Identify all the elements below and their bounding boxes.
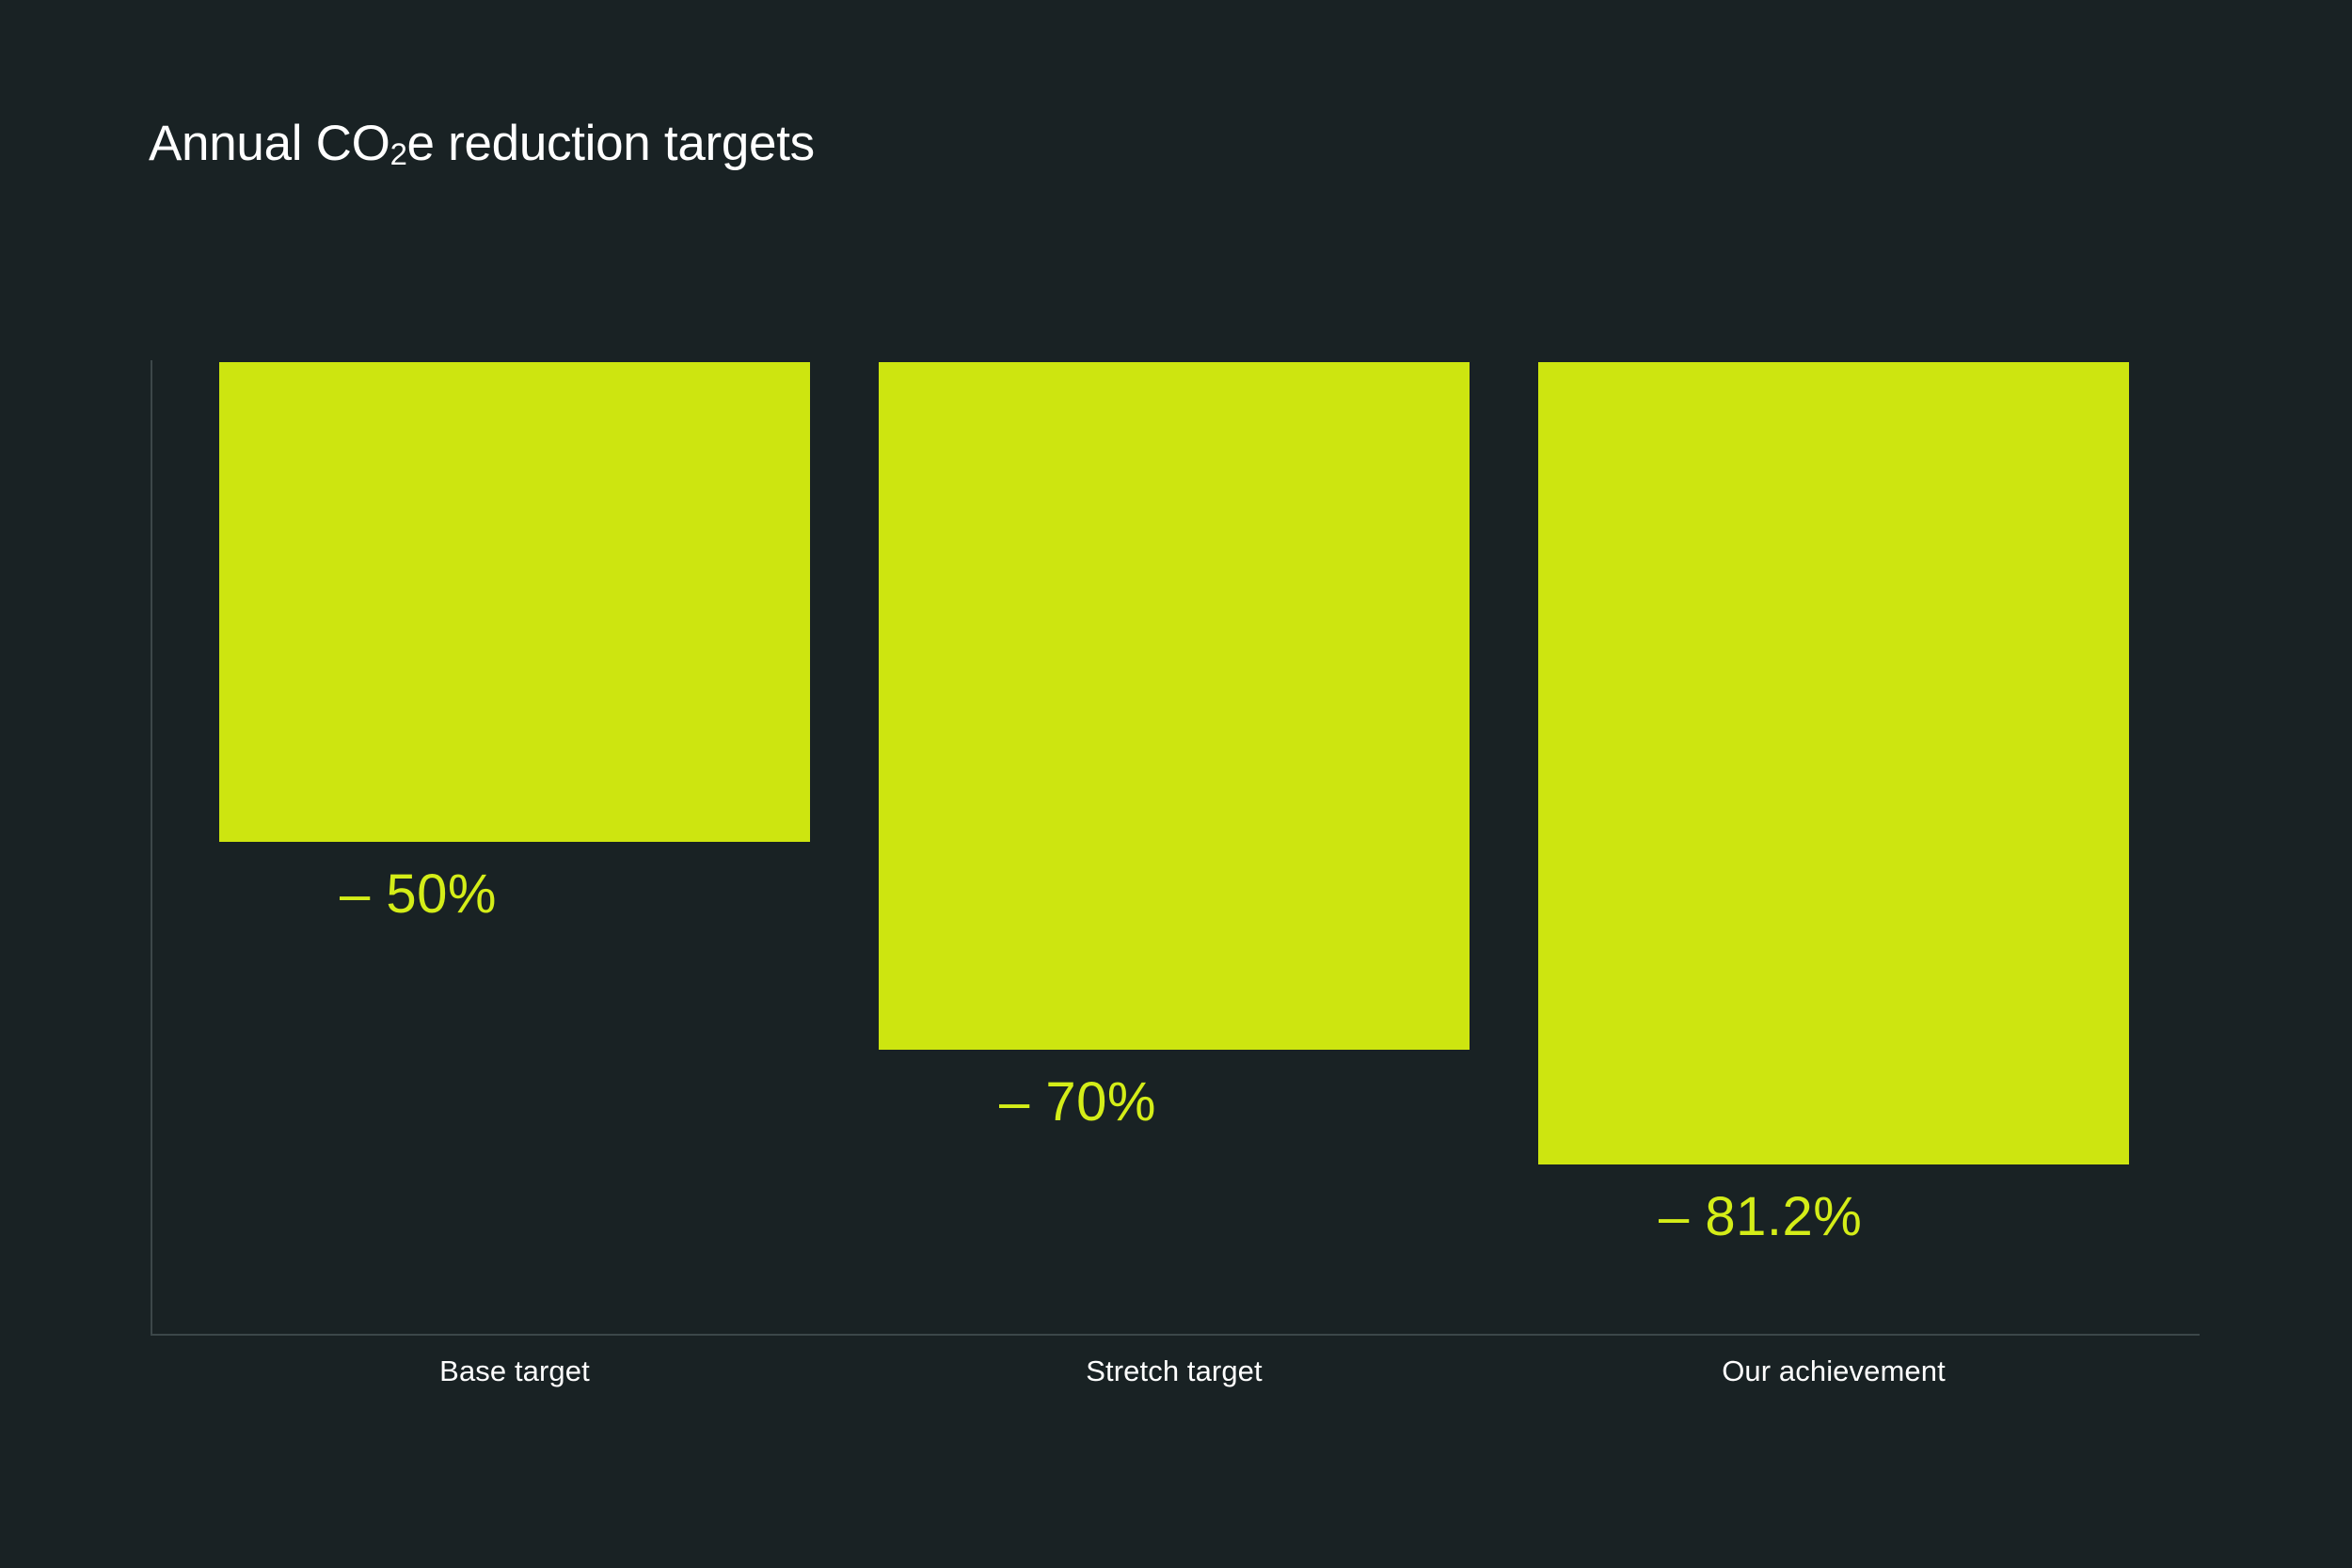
y-axis-line xyxy=(151,360,152,1336)
bar-value-our-achievement: – 81.2% xyxy=(1659,1185,1862,1248)
category-label-stretch-target: Stretch target xyxy=(879,1354,1470,1388)
title-subscript: 2 xyxy=(390,136,407,171)
bar-value-base-target: – 50% xyxy=(340,863,497,926)
title-prefix: Annual CO xyxy=(149,116,390,171)
bar-value-stretch-target: – 70% xyxy=(999,1070,1156,1133)
title-suffix: e reduction targets xyxy=(407,116,815,171)
bar-group-our-achievement[interactable]: – 81.2% xyxy=(1538,362,2129,1336)
bar-our-achievement[interactable] xyxy=(1538,362,2129,1164)
bar-group-base-target[interactable]: – 50% xyxy=(219,362,810,1336)
chart-plot-area: – 50% – 70% – 81.2% xyxy=(151,360,2200,1336)
bars-track: – 50% – 70% – 81.2% xyxy=(219,362,2200,1336)
x-axis-category-labels: Base target Stretch target Our achieveme… xyxy=(219,1354,2200,1388)
category-label-our-achievement: Our achievement xyxy=(1538,1354,2129,1388)
bar-stretch-target[interactable] xyxy=(879,362,1470,1050)
category-label-base-target: Base target xyxy=(219,1354,810,1388)
bar-base-target[interactable] xyxy=(219,362,810,842)
bar-group-stretch-target[interactable]: – 70% xyxy=(879,362,1470,1336)
page-title: Annual CO2e reduction targets xyxy=(149,115,815,172)
